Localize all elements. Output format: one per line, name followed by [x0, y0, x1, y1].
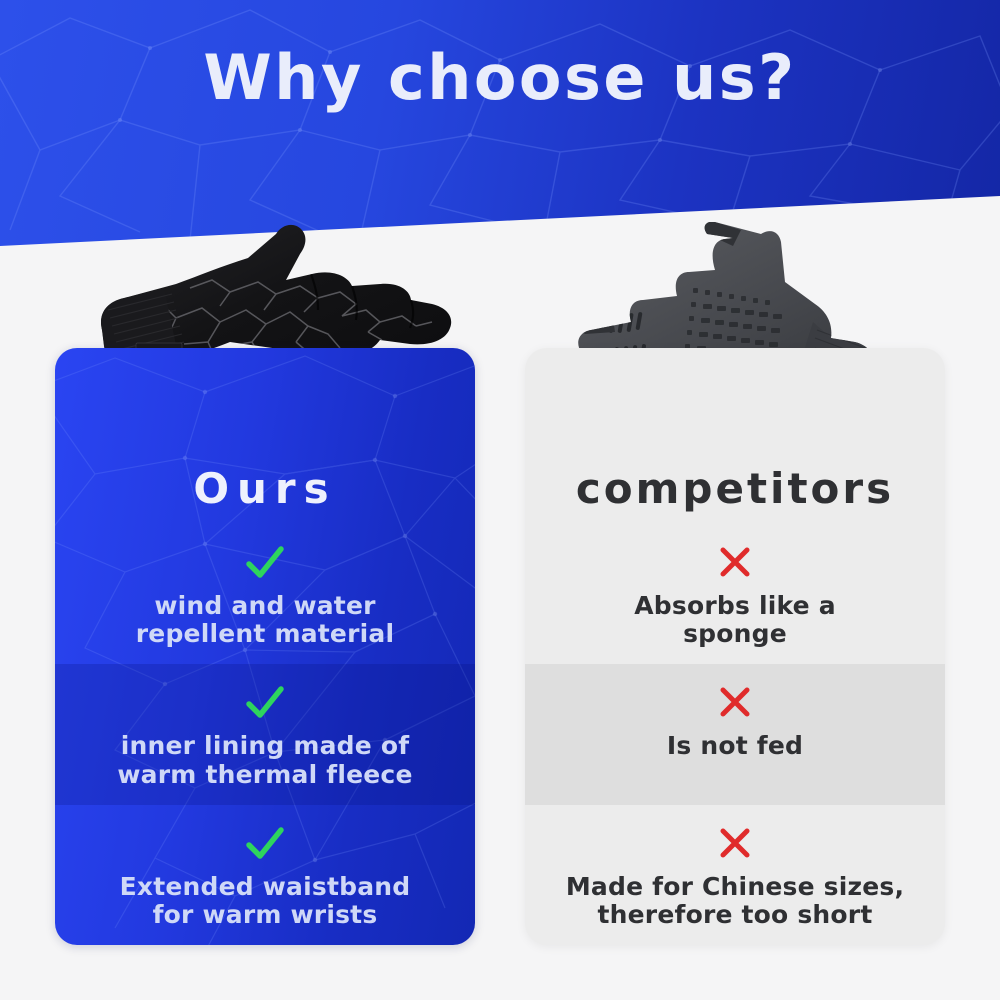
- competitors-card-header: competitors: [525, 348, 945, 524]
- competitors-feature-row-2: Is not fed: [525, 664, 945, 804]
- cross-icon: [715, 678, 755, 726]
- competitors-card: competitors Absorbs like a sponge: [525, 348, 945, 945]
- check-icon: [243, 678, 287, 726]
- ours-feature-list: wind and water repellent material inner …: [55, 524, 475, 945]
- competitors-feature-row-1: Absorbs like a sponge: [525, 524, 945, 664]
- competitors-feature-text-2: Is not fed: [641, 732, 829, 760]
- page-title: Why choose us?: [0, 47, 1000, 109]
- competitors-feature-list: Absorbs like a sponge Is not fed: [525, 524, 945, 945]
- ours-feature-text-3: Extended waistband for warm wrists: [94, 873, 437, 930]
- ours-title: Ours: [193, 468, 336, 510]
- ours-feature-row-3: Extended waistband for warm wrists: [55, 805, 475, 945]
- header-banner: Why choose us?: [0, 0, 1000, 250]
- competitors-feature-text-3: Made for Chinese sizes, therefore too sh…: [540, 873, 930, 930]
- competitors-feature-row-3: Made for Chinese sizes, therefore too sh…: [525, 805, 945, 945]
- ours-card: Ours wind and water repellent material: [55, 348, 475, 945]
- cross-icon: [715, 538, 755, 586]
- competitors-feature-text-1: Absorbs like a sponge: [608, 592, 862, 649]
- ours-card-header: Ours: [55, 348, 475, 524]
- ours-feature-row-2: inner lining made of warm thermal fleece: [55, 664, 475, 804]
- cross-icon: [715, 819, 755, 867]
- header-network-pattern: [0, 0, 1000, 250]
- infographic-canvas: Why choose us?: [0, 0, 1000, 1000]
- check-icon: [243, 819, 287, 867]
- check-icon: [243, 538, 287, 586]
- ours-feature-text-1: wind and water repellent material: [110, 592, 420, 649]
- ours-feature-text-2: inner lining made of warm thermal fleece: [91, 732, 438, 789]
- ours-feature-row-1: wind and water repellent material: [55, 524, 475, 664]
- competitors-title: competitors: [576, 468, 894, 510]
